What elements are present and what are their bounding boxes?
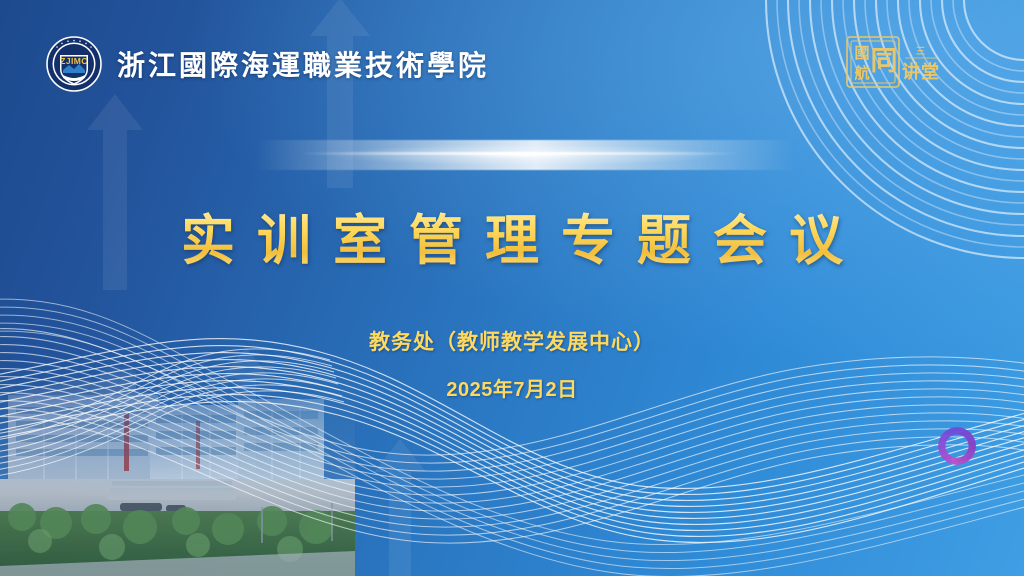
- slide-header: ZJIMC 浙江國際海運職業技術學院: [46, 36, 489, 92]
- svg-text:讲堂: 讲堂: [902, 61, 940, 83]
- light-flare-core: [300, 152, 740, 155]
- svg-text:同: 同: [871, 46, 898, 77]
- organizer-subtitle: 教务处（教师教学发展中心）: [0, 326, 1024, 356]
- svg-text:航: 航: [854, 64, 869, 82]
- light-flare: [255, 140, 795, 170]
- lecture-series-seal: 國 航 同 三 讲堂: [845, 34, 941, 90]
- event-date: 2025年7月2日: [0, 373, 1024, 402]
- presentation-slide: ZJIMC 浙江國際海運職業技術學院 國 航 同: [0, 0, 1024, 576]
- school-name: 浙江國際海運職業技術學院: [117, 44, 489, 84]
- purple-ring-accent: [938, 427, 976, 465]
- school-crest-icon: ZJIMC: [46, 36, 102, 92]
- svg-text:國: 國: [854, 44, 869, 62]
- svg-text:ZJIMC: ZJIMC: [60, 56, 88, 66]
- svg-text:三: 三: [916, 46, 926, 57]
- page-title: 实训室管理专题会议: [0, 196, 1024, 275]
